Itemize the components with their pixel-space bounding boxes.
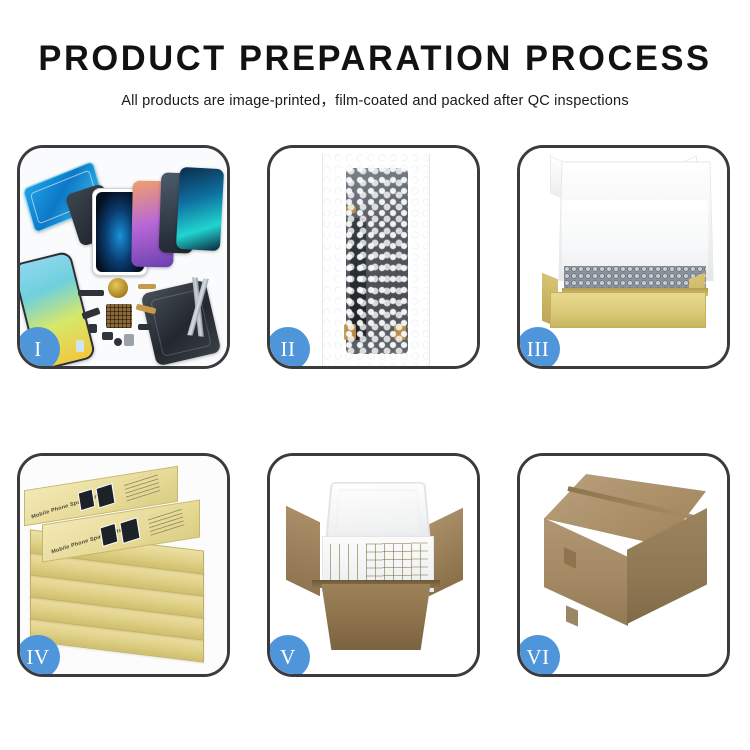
step-badge-3: III	[517, 327, 560, 369]
step-panel-6[interactable]: VI	[517, 453, 730, 677]
step-panel-1[interactable]: I	[17, 145, 230, 369]
phone-teal-curved	[176, 167, 224, 251]
page-subtitle: All products are image-printed，film-coat…	[0, 78, 750, 110]
foam-box-lid	[325, 482, 431, 543]
gold-contact-strip	[138, 284, 156, 289]
box-spec-lines-1	[124, 472, 161, 502]
page-title: PRODUCT PREPARATION PROCESS	[6, 0, 745, 78]
process-step-grid: I II III	[17, 145, 733, 677]
box-photo-1a	[78, 488, 96, 511]
speaker-module	[108, 278, 128, 298]
box-front-yellow	[550, 292, 706, 328]
step-panel-4[interactable]: Mobile Phone Spare Parts Mobile Phone Sp…	[17, 453, 230, 677]
box-photo-2a	[100, 523, 119, 547]
step-badge-6: VI	[517, 635, 560, 677]
step-panel-5[interactable]: V	[267, 453, 480, 677]
step-panel-3[interactable]: III	[517, 145, 730, 369]
logic-board-chip	[106, 304, 132, 328]
box-photo-2b	[119, 517, 140, 544]
box-spec-lines-2	[148, 506, 185, 536]
tweezers-tool	[170, 276, 226, 339]
step-panel-2[interactable]: II	[267, 145, 480, 369]
step-badge-5: V	[267, 635, 310, 677]
yellow-boxes-row-2	[366, 541, 429, 584]
camera-module	[114, 338, 122, 346]
screen-fragment	[76, 340, 84, 352]
flex-cable-1	[78, 290, 104, 296]
step-badge-4: IV	[17, 635, 60, 677]
foam-sheet	[562, 200, 708, 272]
small-component-2	[102, 332, 113, 340]
carton-front-panel	[314, 584, 438, 650]
page-header: PRODUCT PREPARATION PROCESS All products…	[0, 0, 750, 110]
box-photo-1b	[95, 483, 115, 509]
bubble-wrap-bag	[322, 154, 430, 366]
small-component-3	[138, 324, 152, 330]
step-badge-1: I	[17, 327, 60, 369]
sim-tray	[124, 334, 134, 346]
step-badge-2: II	[267, 327, 310, 369]
small-component-1	[88, 324, 97, 333]
